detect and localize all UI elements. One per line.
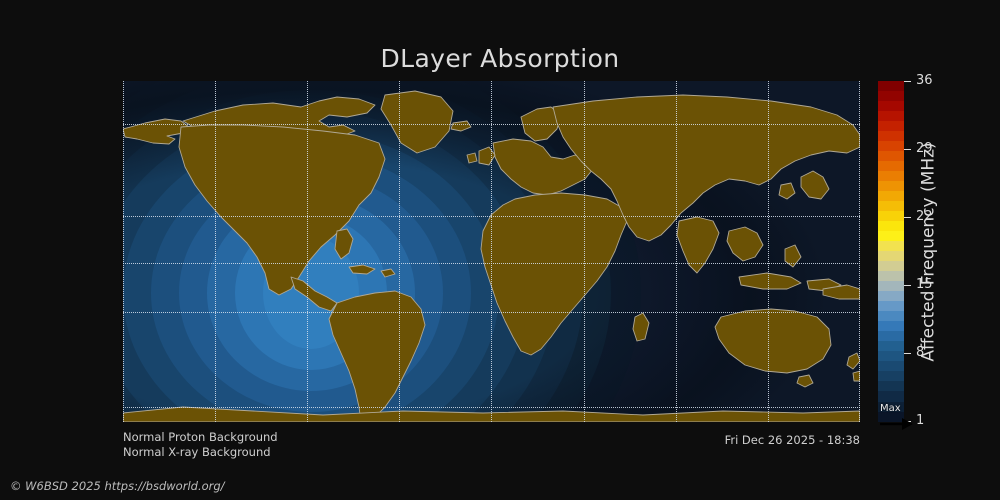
- max-marker-label: Max: [880, 403, 901, 414]
- colorbar-band: [878, 91, 904, 101]
- world-map-axes[interactable]: [123, 81, 860, 422]
- colorbar-band: [878, 281, 904, 291]
- colorbar-band: [878, 301, 904, 311]
- note-proton-background: Normal Proton Background: [123, 430, 278, 444]
- gridline-lon: [215, 81, 216, 422]
- gridline-lon: [859, 81, 860, 422]
- colorbar-band: [878, 161, 904, 171]
- colorbar-tick: [904, 81, 911, 82]
- gridline-lon: [676, 81, 677, 422]
- colorbar-band: [878, 201, 904, 211]
- colorbar-band: [878, 271, 904, 281]
- colorbar-band: [878, 361, 904, 371]
- colorbar-band: [878, 241, 904, 251]
- colorbar-band: [878, 101, 904, 111]
- gridline-lon: [399, 81, 400, 422]
- colorbar-tick: [904, 149, 911, 150]
- colorbar-band: [878, 341, 904, 351]
- page-title: DLayer Absorption: [0, 44, 1000, 73]
- colorbar-band: [878, 121, 904, 131]
- gridline-lon: [307, 81, 308, 422]
- colorbar-band: [878, 321, 904, 331]
- colorbar-band: [878, 191, 904, 201]
- colorbar[interactable]: 36 29 22 15 8 1 Max: [878, 81, 904, 422]
- colorbar-band: [878, 141, 904, 151]
- gridline-lon: [491, 81, 492, 422]
- colorbar-axis-label: Affected Frequency (MHz): [916, 81, 942, 422]
- timestamp: Fri Dec 26 2025 - 18:38: [725, 433, 860, 447]
- colorbar-band: [878, 111, 904, 121]
- colorbar-band: [878, 261, 904, 271]
- colorbar-axis-label-text: Affected Frequency (MHz): [919, 142, 939, 361]
- colorbar-tick: [904, 353, 911, 354]
- colorbar-band: [878, 351, 904, 361]
- gridline-lon: [768, 81, 769, 422]
- colorbar-band: [878, 291, 904, 301]
- colorbar-band: [878, 181, 904, 191]
- gridline-lat: [123, 407, 860, 408]
- colorbar-band: [878, 231, 904, 241]
- gridline-lat: [123, 312, 860, 313]
- colorbar-band: [878, 331, 904, 341]
- colorbar-band: [878, 171, 904, 181]
- gridline-lat: [123, 216, 860, 217]
- colorbar-tick: [904, 217, 911, 218]
- colorbar-band: [878, 381, 904, 391]
- gridline-lat: [123, 263, 860, 264]
- colorbar-gradient: [878, 81, 904, 422]
- gridline-lon: [123, 81, 124, 422]
- gridline-lat: [123, 124, 860, 125]
- copyright-notice: © W6BSD 2025 https://bsdworld.org/: [10, 479, 225, 493]
- colorbar-band: [878, 211, 904, 221]
- colorbar-band: [878, 131, 904, 141]
- note-xray-background: Normal X-ray Background: [123, 445, 271, 459]
- dlayer-absorption-figure: DLayer Absorption: [0, 0, 1000, 500]
- gridline-lon: [584, 81, 585, 422]
- colorbar-band: [878, 81, 904, 91]
- colorbar-band: [878, 311, 904, 321]
- colorbar-band: [878, 391, 904, 401]
- colorbar-band: [878, 221, 904, 231]
- colorbar-band: [878, 371, 904, 381]
- colorbar-tick: [904, 285, 911, 286]
- colorbar-band: [878, 151, 904, 161]
- colorbar-band: [878, 251, 904, 261]
